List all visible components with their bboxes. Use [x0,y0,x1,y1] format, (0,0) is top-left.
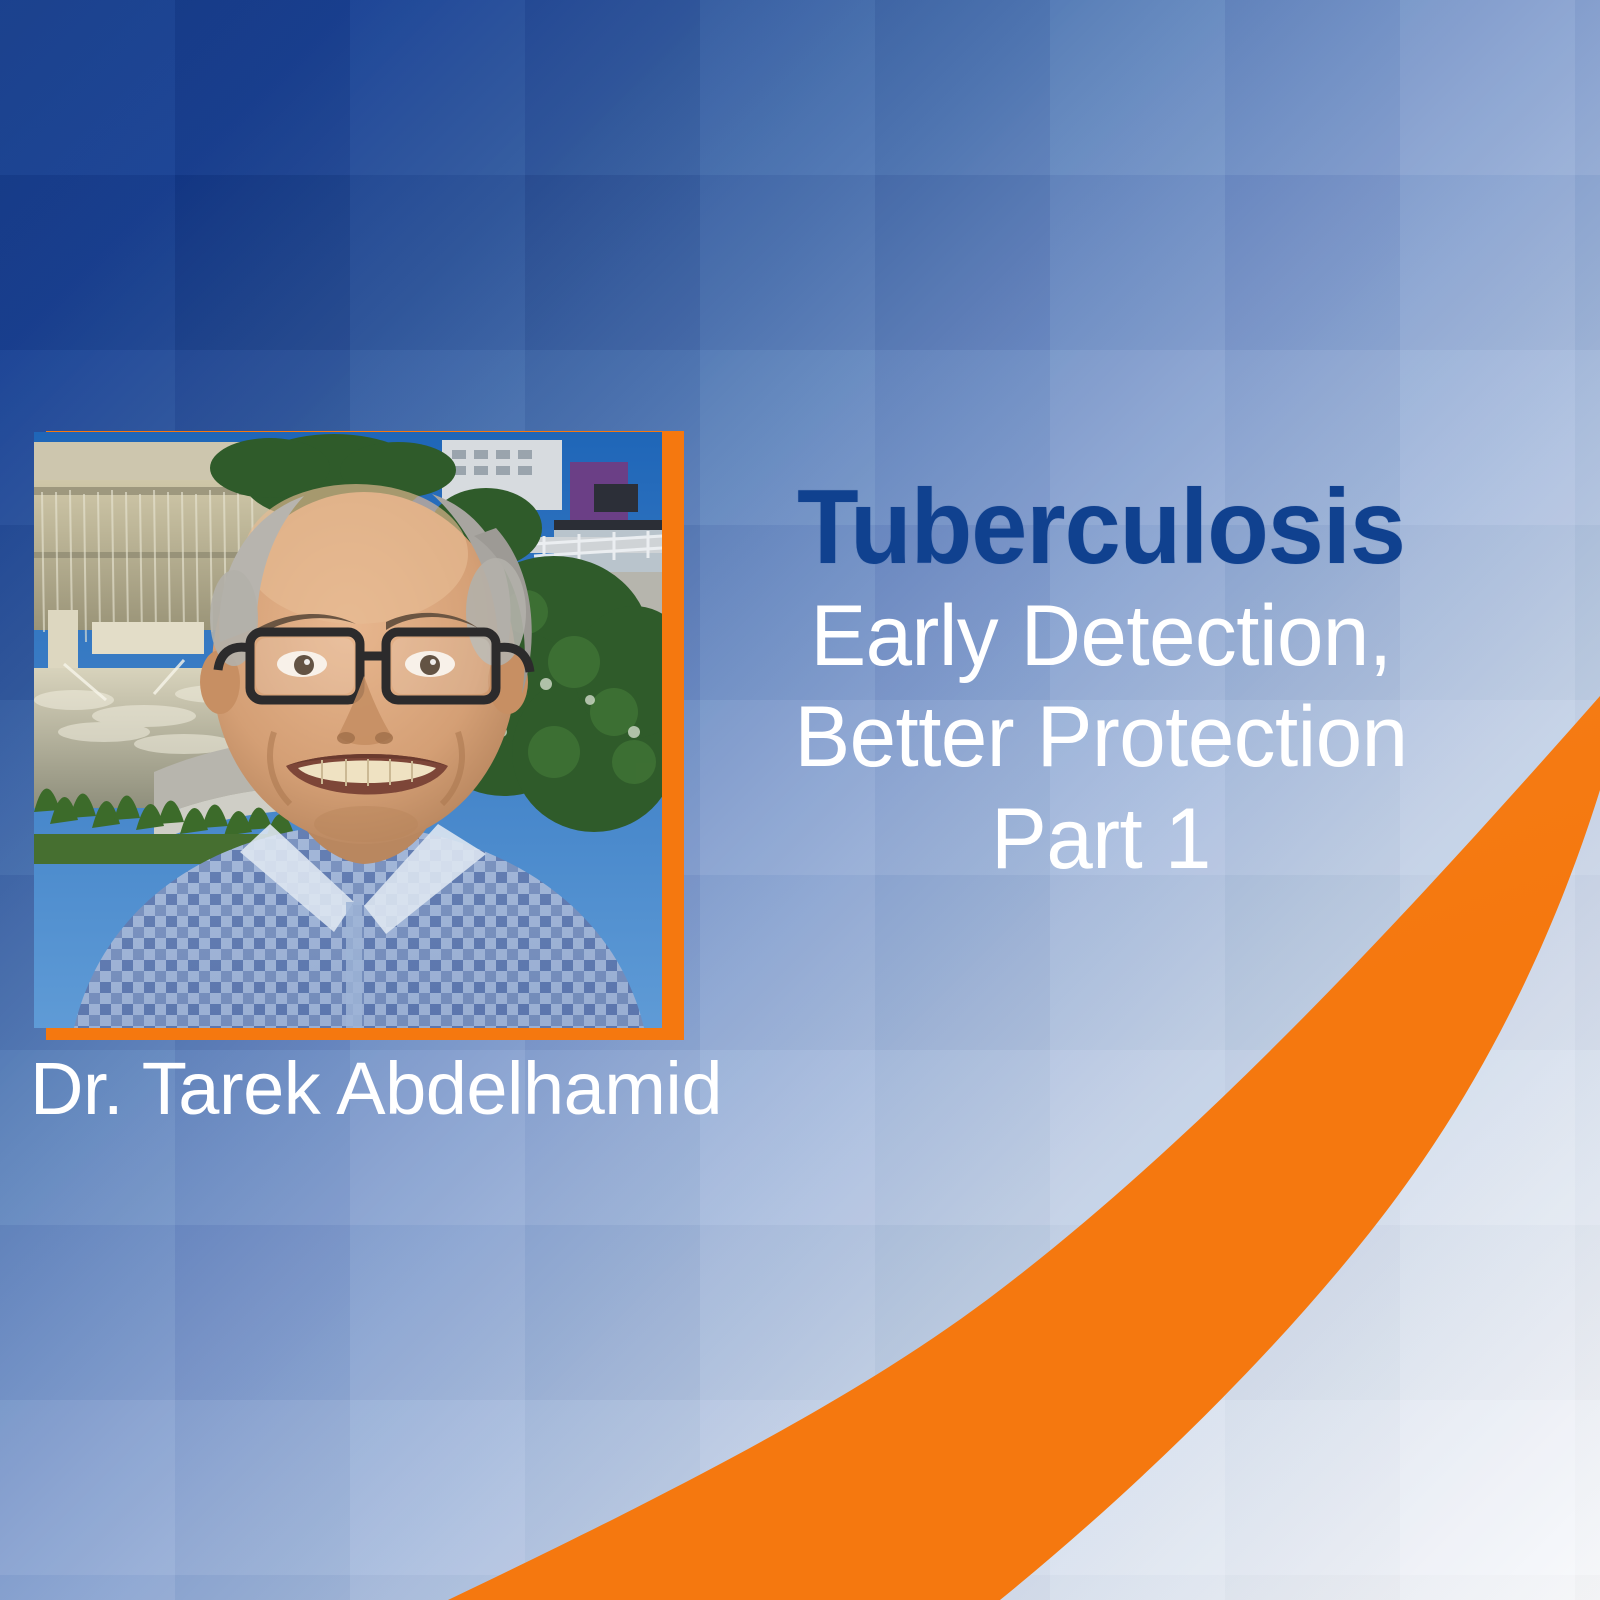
speaker-portrait [34,432,662,1028]
speaker-photo-card [34,431,684,1040]
presentation-title-slide: Tuberculosis Early Detection, Better Pro… [0,0,1600,1600]
title-text-block: Tuberculosis Early Detection, Better Pro… [706,476,1496,890]
speaker-name: Dr. Tarek Abdelhamid [30,1052,722,1126]
page-title: Tuberculosis [726,476,1477,580]
subtitle-block: Early Detection, Better Protection Part … [706,586,1496,890]
subtitle-line-1: Early Detection, [718,586,1484,687]
subtitle-line-3: Part 1 [718,789,1484,890]
subtitle-line-2: Better Protection [718,687,1484,788]
